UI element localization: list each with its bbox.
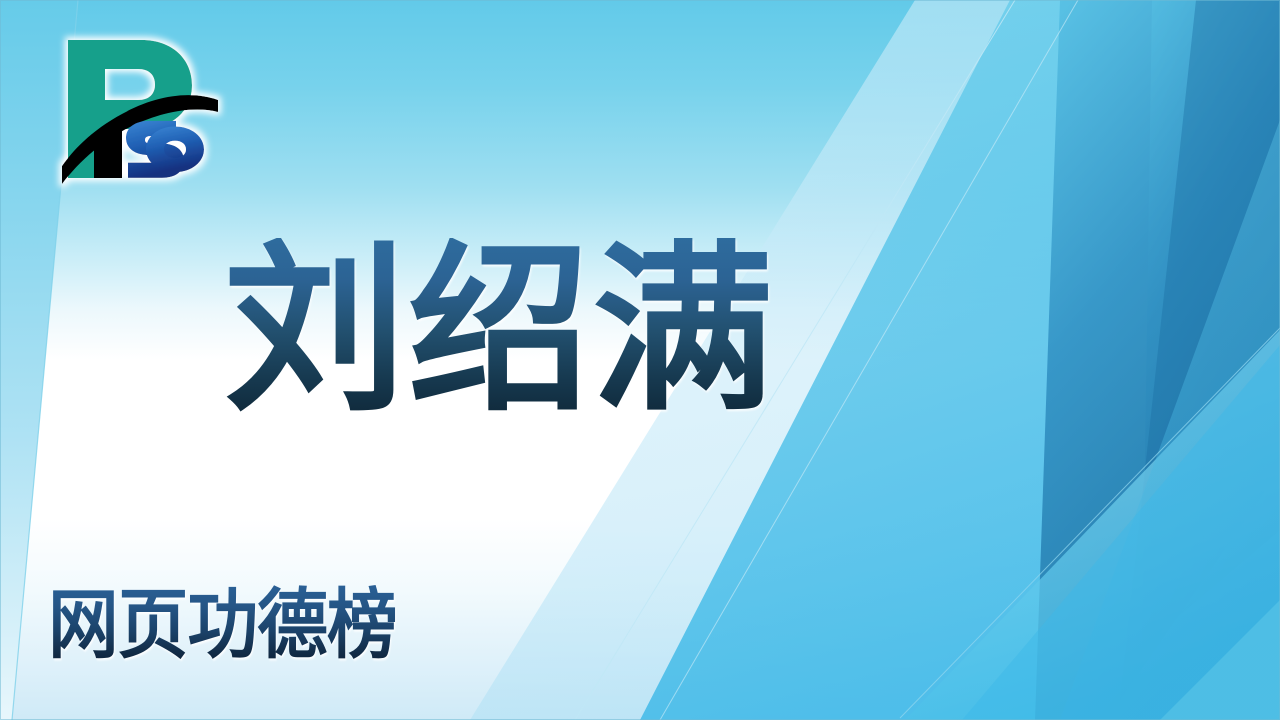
slide-subtitle: 网页功德榜 xyxy=(48,585,397,665)
slide-title: 刘绍满 xyxy=(224,238,776,424)
title-container: 刘绍满 xyxy=(0,238,1000,424)
pso-logo xyxy=(50,28,230,208)
logo-wordmark-so xyxy=(126,121,204,178)
logo-glyphs xyxy=(62,40,218,184)
presentation-slide: 刘绍满 网页功德榜 xyxy=(0,0,1280,720)
subtitle-container: 网页功德榜 xyxy=(48,585,423,665)
